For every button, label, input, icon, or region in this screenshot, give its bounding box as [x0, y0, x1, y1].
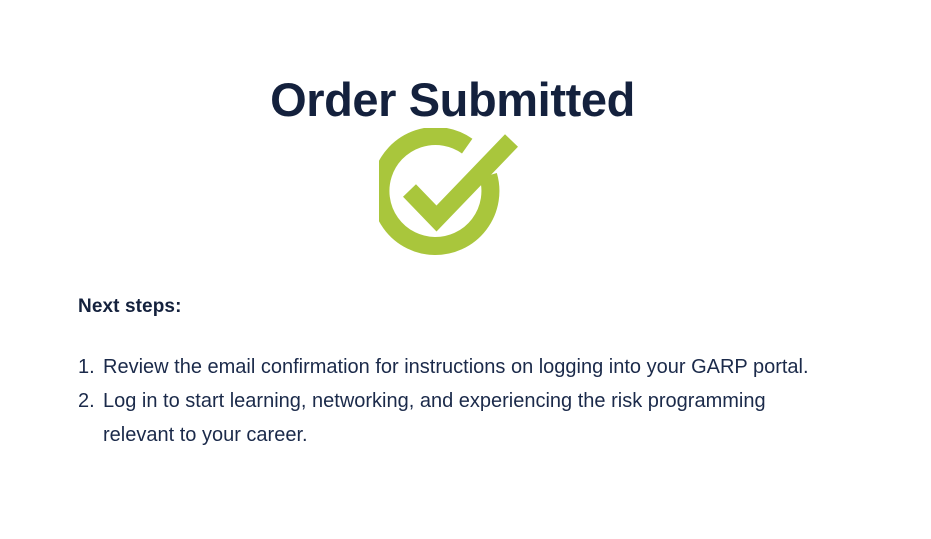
- circle-check-icon: [379, 128, 525, 260]
- list-item-text: Review the email confirmation for instru…: [103, 356, 809, 378]
- list-item: 1. Review the email confirmation for ins…: [78, 350, 838, 384]
- list-item-text: Log in to start learning, networking, an…: [103, 390, 766, 446]
- page-title: Order Submitted: [0, 71, 905, 129]
- order-confirmation-page: Order Submitted Next steps: 1. Review th…: [0, 0, 931, 539]
- list-item-number: 1.: [78, 350, 100, 384]
- next-steps-list: 1. Review the email confirmation for ins…: [78, 350, 838, 452]
- list-item: 2. Log in to start learning, networking,…: [78, 384, 838, 452]
- next-steps-heading: Next steps:: [78, 294, 182, 320]
- list-item-number: 2.: [78, 384, 100, 418]
